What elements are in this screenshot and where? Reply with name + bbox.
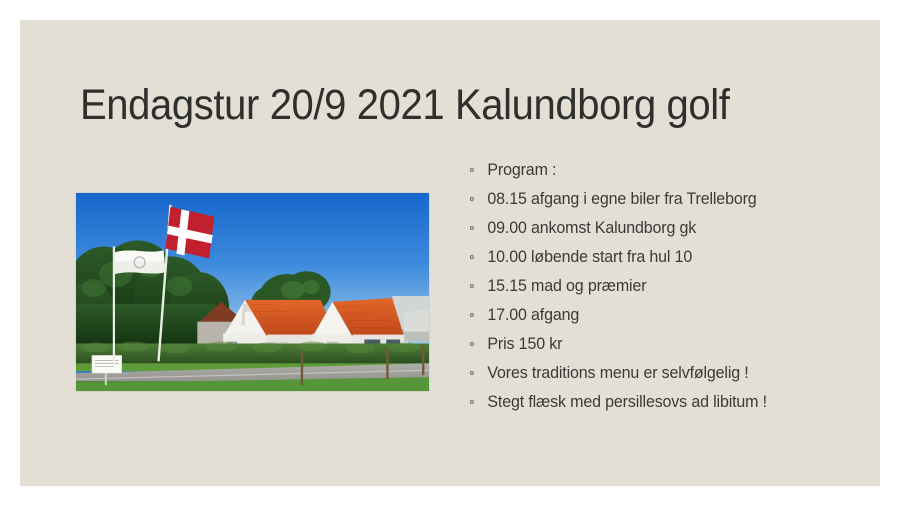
page-title: Endagstur 20/9 2021 Kalundborg golf (80, 78, 787, 132)
hollow-circle-bullet-icon (470, 255, 474, 259)
list-item: 08.15 afgang i egne biler fra Trelleborg (468, 185, 856, 214)
list-item: Pris 150 kr (468, 330, 856, 359)
list-item: Stegt flæsk med persillesovs ad libitum … (468, 388, 856, 417)
list-item-label: Stegt flæsk med persillesovs ad libitum … (487, 393, 767, 411)
hollow-circle-bullet-icon (470, 313, 474, 317)
list-item: Program : (468, 156, 856, 185)
slide-canvas: Endagstur 20/9 2021 Kalundborg golf (0, 0, 900, 506)
hollow-circle-bullet-icon (470, 284, 474, 288)
list-item: 09.00 ankomst Kalundborg gk (468, 214, 856, 243)
presentation-slide: Endagstur 20/9 2021 Kalundborg golf (20, 20, 880, 486)
hollow-circle-bullet-icon (470, 197, 474, 201)
kalundborg-golf-clubhouse-photo (75, 192, 430, 392)
clubhouse-photo-image (76, 193, 429, 391)
hollow-circle-bullet-icon (470, 168, 474, 172)
hollow-circle-bullet-icon (470, 226, 474, 230)
hollow-circle-bullet-icon (470, 342, 474, 346)
list-item: 17.00 afgang (468, 301, 856, 330)
hollow-circle-bullet-icon (470, 371, 474, 375)
list-item-label: Program : (487, 161, 556, 179)
list-item-label: 08.15 afgang i egne biler fra Trelleborg (487, 190, 756, 208)
list-item-label: 15.15 mad og præmier (487, 277, 646, 295)
list-item-label: 09.00 ankomst Kalundborg gk (487, 219, 696, 237)
hollow-circle-bullet-icon (470, 400, 474, 404)
list-item: 10.00 løbende start fra hul 10 (468, 243, 856, 272)
list-item: Vores traditions menu er selvfølgelig ! (468, 359, 856, 388)
list-item: 15.15 mad og præmier (468, 272, 856, 301)
list-item-label: 17.00 afgang (487, 306, 579, 324)
list-item-label: Pris 150 kr (487, 335, 562, 353)
list-item-label: Vores traditions menu er selvfølgelig ! (487, 364, 748, 382)
program-bullet-list: Program : 08.15 afgang i egne biler fra … (468, 156, 868, 417)
list-item-label: 10.00 løbende start fra hul 10 (487, 248, 692, 266)
